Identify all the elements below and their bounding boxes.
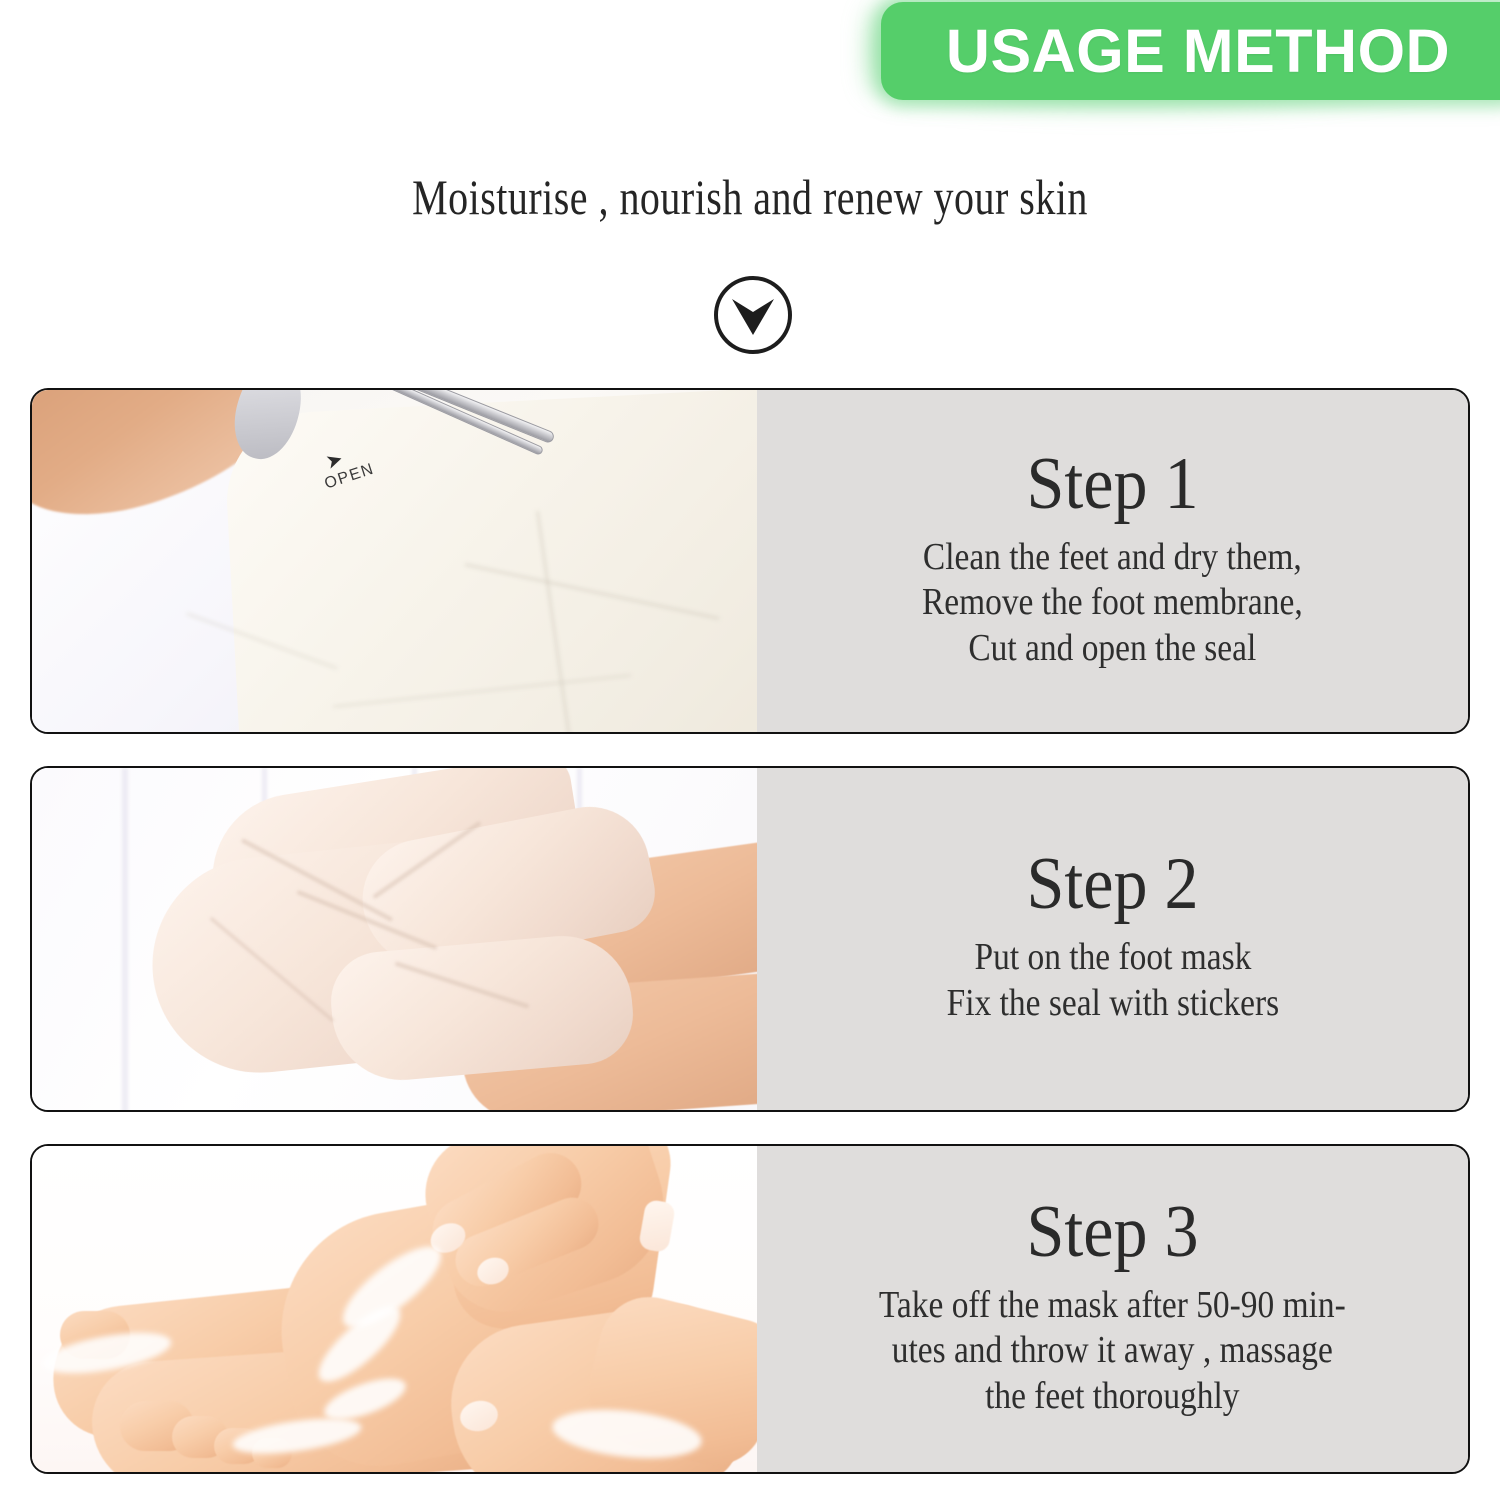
chevron-down-glyph <box>732 299 774 335</box>
bootie-ankle-cuff-front <box>327 930 637 1086</box>
step-2-description: Put on the foot mask Fix the seal with s… <box>946 935 1279 1026</box>
sheet-fold <box>122 768 128 1110</box>
step-1-line-3: Cut and open the seal <box>922 626 1303 672</box>
step-2-text-panel: Step 2 Put on the foot mask Fix the seal… <box>757 768 1468 1110</box>
step-1-description: Clean the feet and dry them, Remove the … <box>922 535 1303 672</box>
tagline: Moisturise , nourish and renew your skin <box>150 168 1350 226</box>
step-3-line-2: utes and throw it away , massage <box>879 1328 1346 1374</box>
step-2-line-2: Fix the seal with stickers <box>946 981 1279 1027</box>
step-1-line-2: Remove the foot membrane, <box>922 580 1303 626</box>
usage-method-banner: USAGE METHOD <box>881 2 1500 100</box>
foot-mask-pouch <box>222 390 757 732</box>
step-2-title: Step 2 <box>1026 847 1198 921</box>
step-1-line-1: Clean the feet and dry them, <box>922 535 1303 581</box>
step-2-photo <box>32 768 757 1110</box>
step-2-line-1: Put on the foot mask <box>946 935 1279 981</box>
step-card-3: Step 3 Take off the mask after 50-90 min… <box>30 1144 1470 1474</box>
step-card-2: Step 2 Put on the foot mask Fix the seal… <box>30 766 1470 1112</box>
step-1-text-panel: Step 1 Clean the feet and dry them, Remo… <box>757 390 1468 732</box>
usage-method-infographic: USAGE METHOD Moisturise , nourish and re… <box>0 0 1500 1500</box>
step-1-photo: ➤ OPEN <box>32 390 757 732</box>
banner-title: USAGE METHOD <box>946 16 1456 86</box>
step-3-line-1: Take off the mask after 50-90 min- <box>879 1283 1346 1329</box>
step-3-text-panel: Step 3 Take off the mask after 50-90 min… <box>757 1146 1468 1472</box>
step-3-line-3: the feet thoroughly <box>879 1374 1346 1420</box>
step-1-title: Step 1 <box>1026 447 1198 521</box>
step-3-description: Take off the mask after 50-90 min- utes … <box>879 1283 1346 1420</box>
step-3-title: Step 3 <box>1026 1195 1198 1269</box>
step-3-photo <box>32 1146 757 1472</box>
step-card-1: ➤ OPEN Step 1 Clean the feet and dry the… <box>30 388 1470 734</box>
chevron-down-circle-icon <box>714 276 792 354</box>
